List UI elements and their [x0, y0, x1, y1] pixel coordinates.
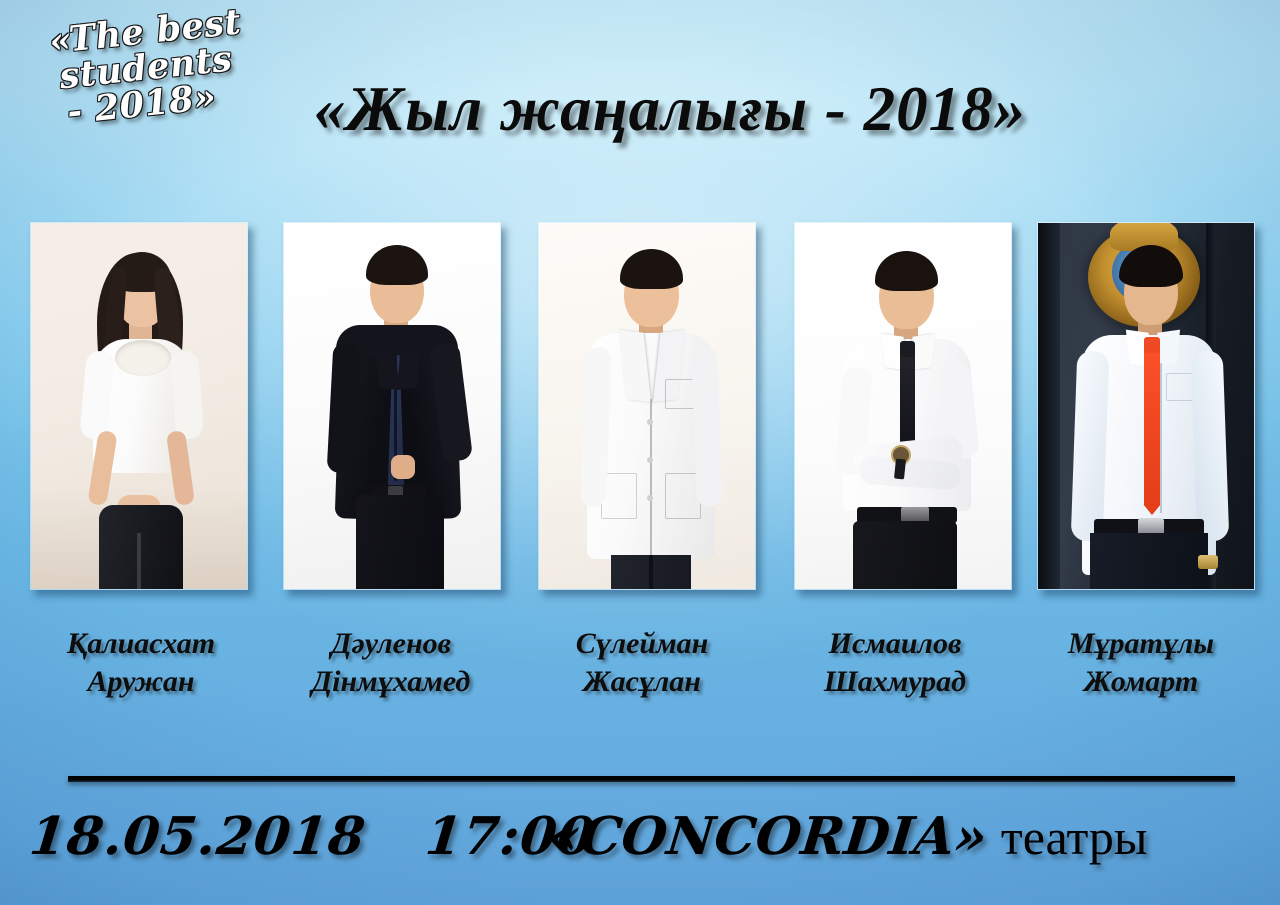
- event-venue: «CONCORDIA»театры: [548, 806, 1148, 867]
- student-5-surname: Мұратұлы: [1016, 625, 1266, 663]
- student-name-2: Дәуленов Дінмұхамед: [266, 625, 516, 702]
- student-names-row: Қалиасхат Аружан Дәуленов Дінмұхамед Сүл…: [0, 625, 1280, 735]
- student-photo-row: [30, 222, 1255, 592]
- poster-headline: «Жыл жаңалығы - 2018»: [0, 78, 1280, 141]
- student-3-surname: Сүлейман: [517, 625, 767, 663]
- student-5-given: Жомарт: [1016, 663, 1266, 701]
- photo-backdrop-5: [1038, 223, 1254, 589]
- student-name-5: Мұратұлы Жомарт: [1016, 625, 1266, 702]
- student-3-given: Жасұлан: [517, 663, 767, 701]
- horizontal-divider: [68, 776, 1235, 782]
- student-1-given: Аружан: [16, 663, 266, 701]
- student-4-surname: Исмаилов: [770, 625, 1020, 663]
- student-photo-5: [1037, 222, 1255, 590]
- student-photo-2: [283, 222, 501, 590]
- student-2-surname: Дәуленов: [266, 625, 516, 663]
- poster-footer: 18.05.2018 17:00 «CONCORDIA»театры: [0, 800, 1280, 900]
- venue-word: театры: [1001, 808, 1148, 866]
- event-datetime: 18.05.2018 17:00: [27, 806, 598, 867]
- student-2-given: Дінмұхамед: [266, 663, 516, 701]
- student-name-1: Қалиасхат Аружан: [16, 625, 266, 702]
- poster-canvas: «The best students - 2018» «Жыл жаңалығы…: [0, 0, 1280, 905]
- student-photo-3: [538, 222, 756, 590]
- event-date: 18.05.2018: [27, 806, 369, 867]
- student-photo-4: [794, 222, 1012, 590]
- photo-backdrop-3: [539, 223, 755, 589]
- venue-name: «CONCORDIA»: [545, 806, 990, 867]
- student-1-surname: Қалиасхат: [16, 625, 266, 663]
- student-4-given: Шахмурад: [770, 663, 1020, 701]
- student-photo-1: [30, 222, 248, 590]
- student-name-4: Исмаилов Шахмурад: [770, 625, 1020, 702]
- photo-backdrop-4: [795, 223, 1011, 589]
- photo-backdrop-1: [31, 223, 247, 589]
- photo-backdrop-2: [284, 223, 500, 589]
- student-name-3: Сүлейман Жасұлан: [517, 625, 767, 702]
